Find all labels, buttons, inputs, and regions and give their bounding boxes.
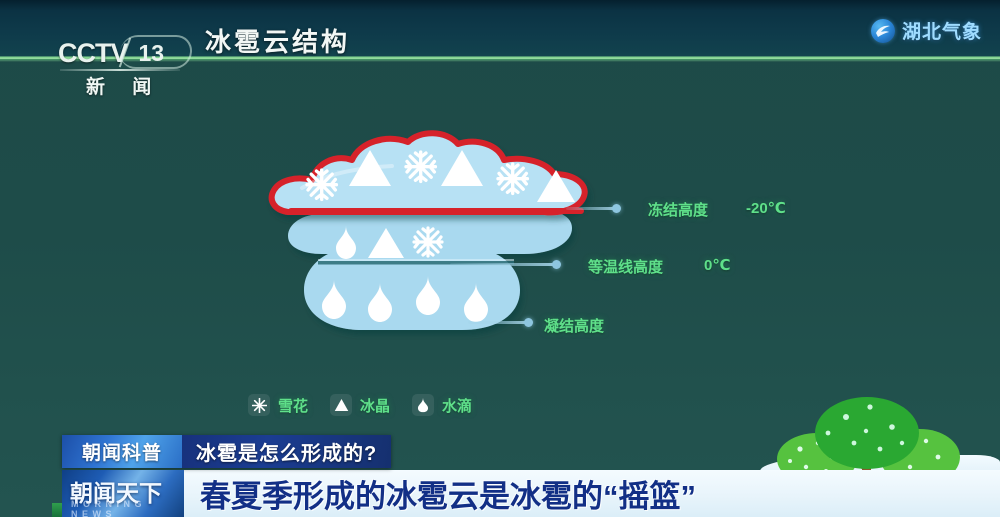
subtitle-banner: 朝闻科普 冰雹是怎么形成的? bbox=[62, 435, 391, 468]
show-logo-subtitle: MORNING NEWS bbox=[71, 499, 184, 517]
triangle-icon bbox=[330, 394, 352, 416]
legend-item-snowflake: 雪花 bbox=[248, 394, 308, 416]
broadcaster-watermark: 湖北气象 bbox=[871, 17, 982, 44]
legend-item-ice-crystal: 冰晶 bbox=[330, 394, 390, 416]
hail-cloud-diagram bbox=[262, 128, 602, 338]
callout-dot-condensation bbox=[524, 318, 533, 327]
headline-text: 春夏季形成的冰雹云是冰雹的“摇篮” bbox=[184, 470, 712, 517]
channel-sublabel: 新 闻 bbox=[86, 72, 162, 99]
droplet-icon bbox=[412, 394, 434, 416]
show-logo: 朝闻天下 MORNING NEWS bbox=[62, 470, 184, 517]
annotation-value-freezing: -20℃ bbox=[746, 199, 786, 217]
annotation-label-condensation: 凝结高度 bbox=[544, 315, 604, 336]
cloud-shape bbox=[262, 128, 602, 340]
channel-logo: CCTV 13 新 闻 bbox=[58, 38, 198, 100]
legend-label-water-droplet: 水滴 bbox=[442, 395, 472, 416]
legend-label-snowflake: 雪花 bbox=[278, 395, 308, 416]
legend: 雪花 冰晶 水滴 bbox=[248, 394, 472, 416]
callout-line-condensation bbox=[468, 321, 530, 324]
annotation-label-freezing: 冻结高度 bbox=[648, 199, 708, 220]
callout-line-isotherm bbox=[450, 263, 558, 266]
annotation-label-isotherm: 等温线高度 bbox=[588, 256, 663, 277]
legend-label-ice-crystal: 冰晶 bbox=[360, 395, 390, 416]
segment-question: 冰雹是怎么形成的? bbox=[182, 435, 391, 468]
channel-wordmark: CCTV bbox=[58, 38, 128, 69]
headline-banner: 朝闻天下 MORNING NEWS 春夏季形成的冰雹云是冰雹的“摇篮” bbox=[62, 470, 712, 517]
callout-line-freezing bbox=[566, 207, 618, 210]
callout-dot-isotherm bbox=[552, 260, 561, 269]
page-title: 冰雹云结构 bbox=[205, 22, 350, 59]
legend-item-water-droplet: 水滴 bbox=[412, 394, 472, 416]
annotation-value-isotherm: 0℃ bbox=[704, 256, 731, 274]
broadcaster-name: 湖北气象 bbox=[902, 17, 982, 44]
broadcast-screen: 冰雹云结构 CCTV 13 新 闻 湖北气象 bbox=[0, 0, 1000, 517]
snowflake-icon bbox=[248, 394, 270, 416]
wind-swirl-icon bbox=[871, 19, 895, 43]
channel-underline bbox=[60, 69, 180, 71]
callout-dot-freezing bbox=[612, 204, 621, 213]
segment-tag: 朝闻科普 bbox=[62, 435, 182, 468]
channel-logo-row: CCTV 13 bbox=[58, 38, 198, 68]
